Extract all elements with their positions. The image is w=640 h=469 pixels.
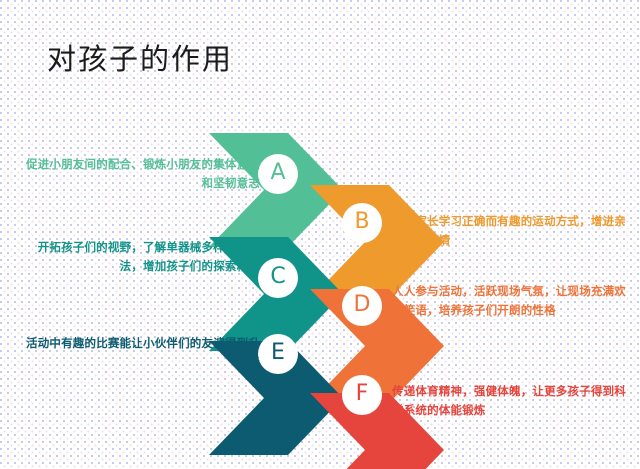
step-badge-c[interactable]: C (258, 258, 298, 298)
step-text-b: 帮助家长学习正确而有趣的运动方式，增进亲子间的感情 (392, 212, 632, 249)
step-text-f: 传递体育精神，强健体魄，让更多孩子得到科学系统的体能锻炼 (392, 382, 632, 419)
slide-canvas: 对孩子的作用 A B C D E F 促进小朋友间的配合、锻炼小朋友的集体意识和… (0, 0, 640, 469)
step-text-e: 活动中有趣的比赛能让小伙伴们的友谊得到升华 (20, 334, 260, 371)
step-badge-f[interactable]: F (342, 375, 382, 415)
step-text-c: 开拓孩子们的视野，了解单器械多样性的玩法，增加孩子们的探索精神 (20, 238, 260, 275)
step-text-a: 促进小朋友间的配合、锻炼小朋友的集体意识和坚韧意志 (20, 155, 260, 192)
page-title: 对孩子的作用 (47, 42, 233, 77)
step-text-d: 人人参与活动，活跃现场气氛，让现场充满欢声笑语，培养孩子们开朗的性格 (392, 282, 630, 319)
step-badge-a[interactable]: A (258, 154, 298, 194)
step-badge-d[interactable]: D (342, 286, 382, 326)
step-badge-e[interactable]: E (258, 334, 298, 374)
step-badge-b[interactable]: B (342, 203, 382, 243)
